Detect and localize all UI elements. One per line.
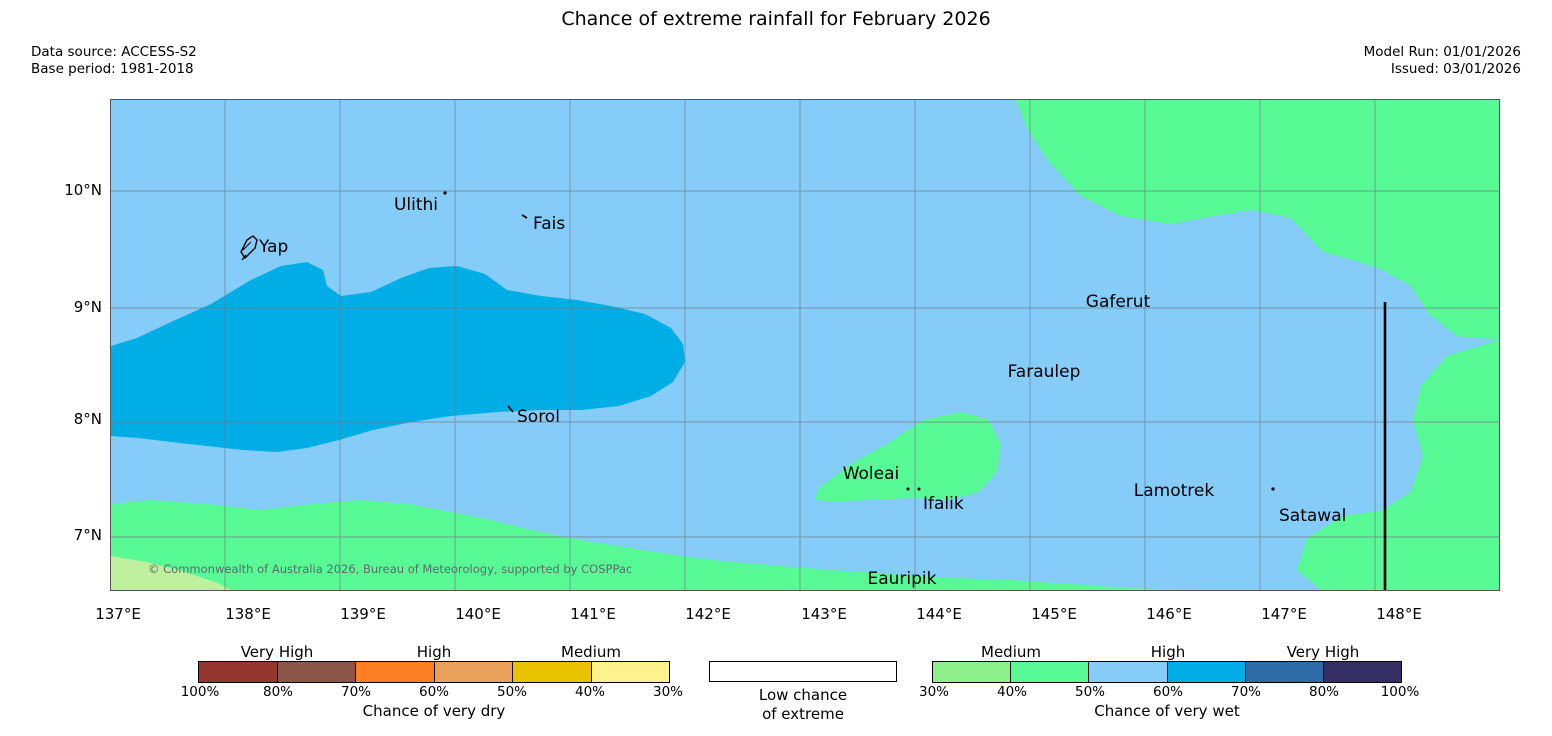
legend-wet-tick-6: 100% (1381, 684, 1420, 700)
copyright-text: © Commonwealth of Australia 2026, Bureau… (148, 562, 632, 576)
x-axis-label-9: 146°E (1129, 605, 1209, 623)
map-place-label-sorol: Sorol (517, 407, 560, 427)
legend-dry-swatch-80-70[interactable] (278, 662, 357, 682)
x-axis-label-0: 137°E (78, 605, 158, 623)
legend-wet-tick-0: 30% (919, 684, 949, 700)
legend-dry-swatch-50-40[interactable] (513, 662, 592, 682)
island-marker-ifalik-b (918, 488, 921, 491)
legend-dry-tick-3: 60% (419, 684, 449, 700)
x-axis-label-10: 147°E (1244, 605, 1324, 623)
y-axis-label-2: 8°N (26, 410, 102, 428)
legend-low-chance-line1: Low chance (709, 686, 897, 705)
legend-dry-tick-4: 50% (497, 684, 527, 700)
legend-wet-tick-3: 60% (1153, 684, 1183, 700)
rainfall-map[interactable]: Ulithi Fais Yap Gaferut Faraulep Sorol W… (110, 99, 1500, 591)
y-axis-label-3: 7°N (26, 526, 102, 544)
legend-very-wet[interactable]: Medium High Very High 30% 40% 50% 60% 70… (932, 641, 1402, 720)
legend-dry-tick-0: 100% (181, 684, 220, 700)
legend-dry-category-high: High (417, 643, 451, 661)
legend-dry-swatch-100-80[interactable] (199, 662, 278, 682)
legend-very-dry[interactable]: Very High High Medium 100% 80% 70% 60% 5… (198, 641, 670, 720)
island-marker-ulithi (443, 191, 446, 194)
legend-dry-swatch-60-50[interactable] (435, 662, 514, 682)
x-axis-label-3: 140°E (438, 605, 518, 623)
x-axis-label-4: 141°E (553, 605, 633, 623)
legend-dry-categories: Very High High Medium (198, 641, 670, 661)
x-axis-label-7: 144°E (899, 605, 979, 623)
map-place-label-yap: Yap (258, 237, 288, 257)
base-period-text: Base period: 1981-2018 (31, 61, 197, 78)
legend-dry-tick-2: 70% (341, 684, 371, 700)
legend-wet-tick-5: 80% (1309, 684, 1339, 700)
legend-wet-colorbar[interactable] (932, 661, 1402, 683)
legend-wet-swatch-50-60[interactable] (1089, 662, 1167, 682)
page-title: Chance of extreme rainfall for February … (0, 8, 1552, 30)
legend-wet-caption: Chance of very wet (932, 702, 1402, 720)
legend-wet-swatch-30-40[interactable] (933, 662, 1011, 682)
x-axis-label-2: 139°E (323, 605, 403, 623)
map-place-label-woleai: Woleai (843, 464, 900, 484)
legend-low-chance-swatch[interactable] (709, 661, 897, 682)
legend-dry-tick-1: 80% (263, 684, 293, 700)
legend-wet-swatch-60-70[interactable] (1168, 662, 1246, 682)
legend-wet-tick-1: 40% (997, 684, 1027, 700)
legend-low-chance-line2: of extreme (709, 705, 897, 724)
legend-wet-swatch-70-80[interactable] (1246, 662, 1324, 682)
metadata-right: Model Run: 01/01/2026 Issued: 03/01/2026 (1364, 44, 1521, 78)
x-axis-label-6: 143°E (784, 605, 864, 623)
legend-wet-swatch-80-100[interactable] (1324, 662, 1401, 682)
x-axis-label-1: 138°E (208, 605, 288, 623)
legend-wet-tick-2: 50% (1075, 684, 1105, 700)
model-run-text: Model Run: 01/01/2026 (1364, 44, 1521, 61)
page-root: Chance of extreme rainfall for February … (0, 0, 1552, 736)
x-axis-label-5: 142°E (668, 605, 748, 623)
legend-dry-tick-5: 40% (575, 684, 605, 700)
legend-wet-category-high: High (1151, 643, 1185, 661)
x-axis-label-8: 145°E (1014, 605, 1094, 623)
map-place-label-faraulep: Faraulep (1008, 362, 1081, 382)
map-place-label-fais: Fais (533, 214, 565, 234)
legend-dry-swatch-40-30[interactable] (592, 662, 670, 682)
map-place-label-eauripik: Eauripik (867, 569, 936, 589)
y-axis-label-0: 10°N (26, 181, 102, 199)
legend-wet-categories: Medium High Very High (932, 641, 1402, 661)
legend-dry-colorbar[interactable] (198, 661, 670, 683)
legend-wet-swatch-40-50[interactable] (1011, 662, 1089, 682)
legend-dry-tick-6: 30% (653, 684, 683, 700)
x-axis-label-11: 148°E (1359, 605, 1439, 623)
legend-low-chance[interactable]: Low chance of extreme (709, 661, 897, 724)
island-marker-ifalik-a (907, 488, 910, 491)
map-place-label-ifalik: Ifalik (923, 494, 964, 514)
legend-dry-category-very-high: Very High (241, 643, 314, 661)
island-marker-satawal (1271, 487, 1274, 490)
y-axis-label-1: 9°N (26, 298, 102, 316)
issued-text: Issued: 03/01/2026 (1364, 61, 1521, 78)
legend-wet-tick-4: 70% (1231, 684, 1261, 700)
legend-dry-caption: Chance of very dry (198, 702, 670, 720)
map-place-label-ulithi: Ulithi (394, 195, 438, 215)
legend-dry-ticks: 100% 80% 70% 60% 50% 40% 30% (198, 683, 670, 700)
map-place-label-satawal: Satawal (1279, 506, 1346, 526)
legend-wet-ticks: 30% 40% 50% 60% 70% 80% 100% (932, 683, 1402, 700)
legend-dry-category-medium: Medium (561, 643, 621, 661)
data-source-text: Data source: ACCESS-S2 (31, 44, 197, 61)
map-place-label-gaferut: Gaferut (1086, 292, 1151, 312)
legend-wet-category-very-high: Very High (1287, 643, 1360, 661)
map-canvas: Ulithi Fais Yap Gaferut Faraulep Sorol W… (111, 100, 1499, 590)
legend-wet-category-medium: Medium (981, 643, 1041, 661)
legend-dry-swatch-70-60[interactable] (356, 662, 435, 682)
map-place-label-lamotrek: Lamotrek (1134, 481, 1215, 501)
legend-low-chance-label: Low chance of extreme (709, 686, 897, 724)
metadata-left: Data source: ACCESS-S2 Base period: 1981… (31, 44, 197, 78)
